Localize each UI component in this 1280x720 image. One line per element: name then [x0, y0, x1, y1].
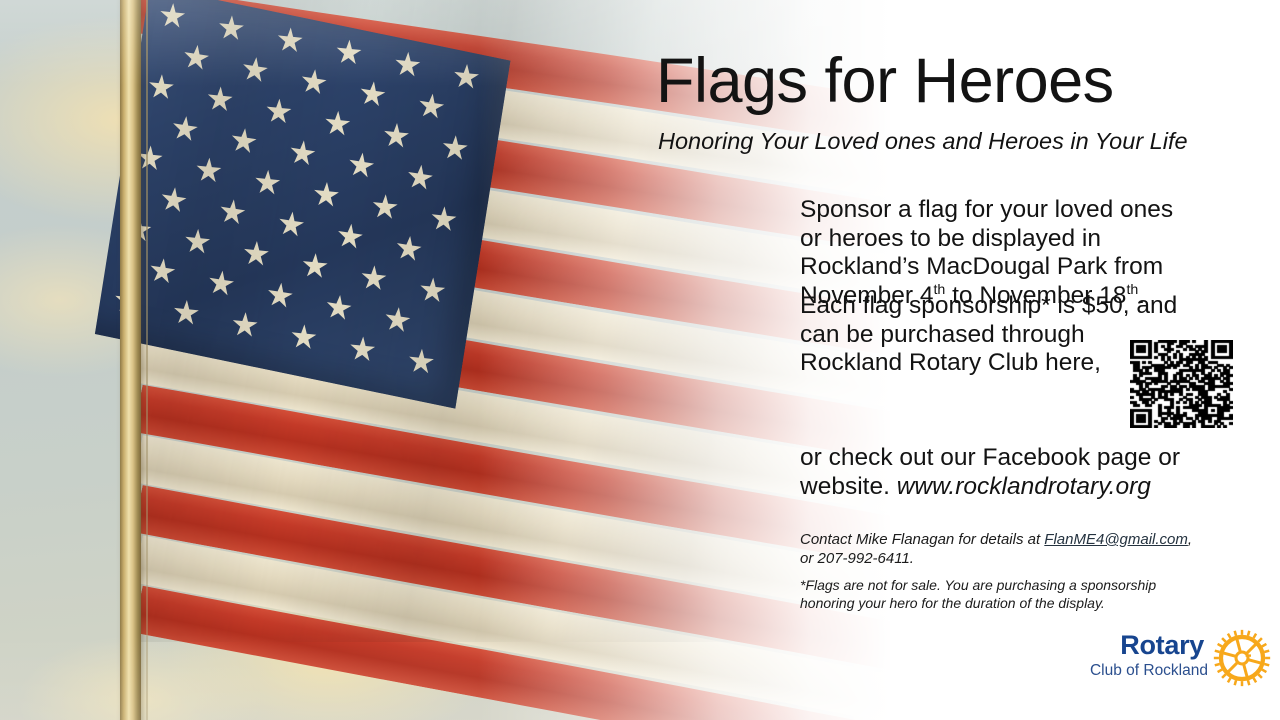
- contact-line: Contact Mike Flanagan for details at Fla…: [800, 530, 1200, 568]
- rotary-wordmark: Rotary: [1120, 632, 1204, 659]
- content-column: Flags for Heroes Honoring Your Loved one…: [0, 0, 1280, 720]
- footnote-disclaimer: *Flags are not for sale. You are purchas…: [800, 576, 1190, 612]
- contact-lead: Contact Mike Flanagan for details at: [800, 531, 1044, 548]
- contact-email-link[interactable]: FlanME4@gmail.com: [1044, 531, 1188, 548]
- qr-code-canvas[interactable]: [1130, 340, 1233, 428]
- paragraph-website-info: or check out our Facebook page or websit…: [800, 444, 1200, 501]
- qr-code[interactable]: [1130, 340, 1233, 428]
- page-subtitle: Honoring Your Loved ones and Heroes in Y…: [658, 128, 1188, 155]
- page-title: Flags for Heroes: [656, 48, 1114, 114]
- flyer-poster: Flags for Heroes Honoring Your Loved one…: [0, 0, 1280, 720]
- rotary-wheel-icon: [1212, 628, 1272, 688]
- paragraph-price-info: Each flag sponsorship* is $50, and can b…: [800, 292, 1180, 378]
- website-link[interactable]: www.rocklandrotary.org: [897, 473, 1151, 500]
- rotary-club-name: Club of Rockland: [1090, 663, 1208, 679]
- rotary-logo: Rotary Club of Rockland: [1098, 632, 1266, 690]
